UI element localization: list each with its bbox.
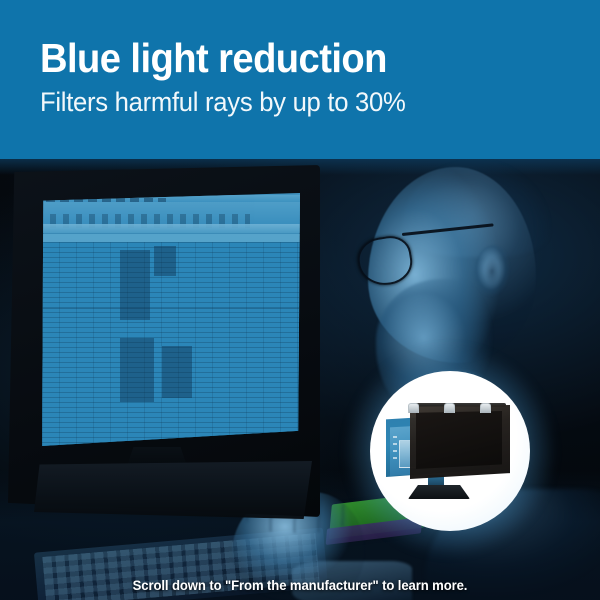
spreadsheet-selected-row	[42, 308, 300, 309]
spreadsheet-cell-block	[154, 246, 176, 276]
monitor-chin	[34, 461, 312, 519]
spreadsheet-cell-block	[120, 338, 154, 402]
spreadsheet-formula-bar	[42, 224, 300, 233]
product-monitor	[386, 407, 510, 499]
page-title: Blue light reduction	[40, 33, 387, 83]
ear-inner	[484, 257, 500, 285]
filter-hanging-clip-icon	[480, 403, 491, 413]
spreadsheet-cell-block	[162, 346, 192, 398]
product-stand-base	[408, 485, 470, 499]
monitor-screen	[42, 193, 300, 446]
desktop-monitor	[8, 165, 328, 535]
product-feature-image: Blue light reduction Filters harmful ray…	[0, 0, 600, 600]
spreadsheet-grid	[42, 242, 300, 446]
spreadsheet-column-headers	[42, 234, 300, 242]
filter-hanging-clip-icon	[444, 403, 455, 413]
footer-caption: Scroll down to "From the manufacturer" t…	[9, 578, 591, 593]
product-inset-badge	[370, 371, 530, 531]
desktop-icons	[393, 436, 397, 460]
page-subtitle: Filters harmful rays by up to 30%	[40, 85, 406, 119]
spreadsheet-toolbar	[42, 202, 300, 224]
header-banner: Blue light reduction Filters harmful ray…	[0, 0, 600, 159]
inset-circle	[370, 371, 530, 531]
scene-photo: Scroll down to "From the manufacturer" t…	[0, 159, 600, 600]
spreadsheet-cell-block	[120, 250, 150, 320]
filter-panel-face	[416, 411, 502, 469]
blue-light-filter-panel	[410, 405, 510, 479]
filter-hanging-clip-icon	[408, 403, 419, 413]
